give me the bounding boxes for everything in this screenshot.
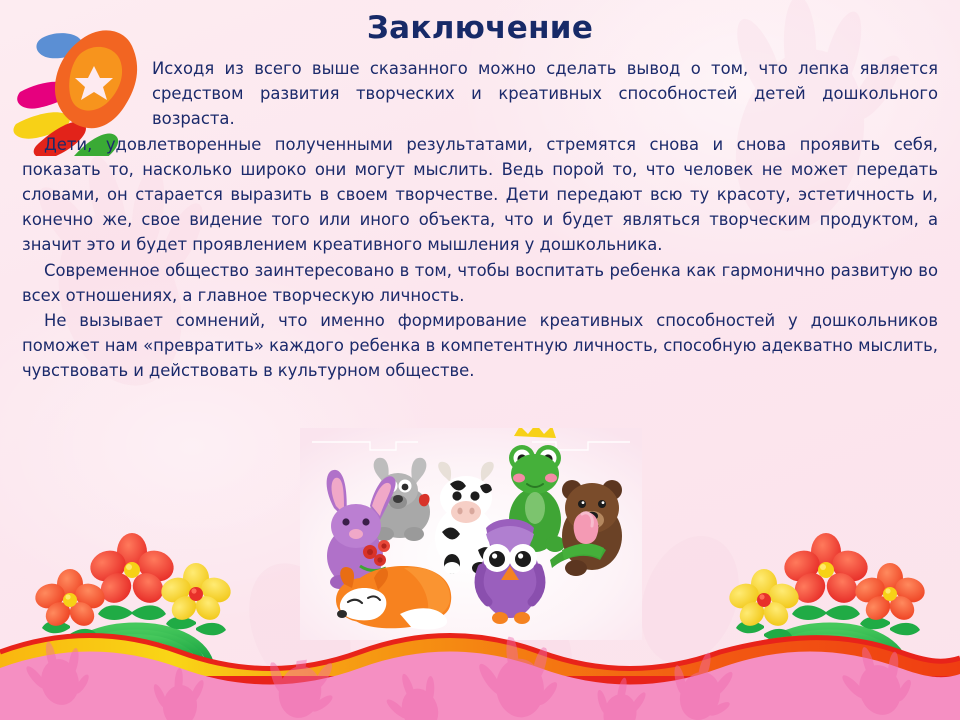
page-title: Заключение: [0, 8, 960, 48]
wave-footer: [0, 610, 960, 720]
body-text: Исходя из всего выше сказанного можно сд…: [22, 56, 938, 384]
paragraph-lead: Исходя из всего выше сказанного можно сд…: [152, 56, 938, 132]
paragraph-2: Дети, удовлетворенные полученными резуль…: [22, 132, 938, 258]
paragraph-4: Не вызывает сомнений, что именно формиро…: [22, 308, 938, 384]
plasticine-animals-photo: [300, 428, 642, 640]
paragraph-3: Современное общество заинтересовано в то…: [22, 258, 938, 308]
slide: Заключение Исходя из всего выше сказанно…: [0, 0, 960, 720]
